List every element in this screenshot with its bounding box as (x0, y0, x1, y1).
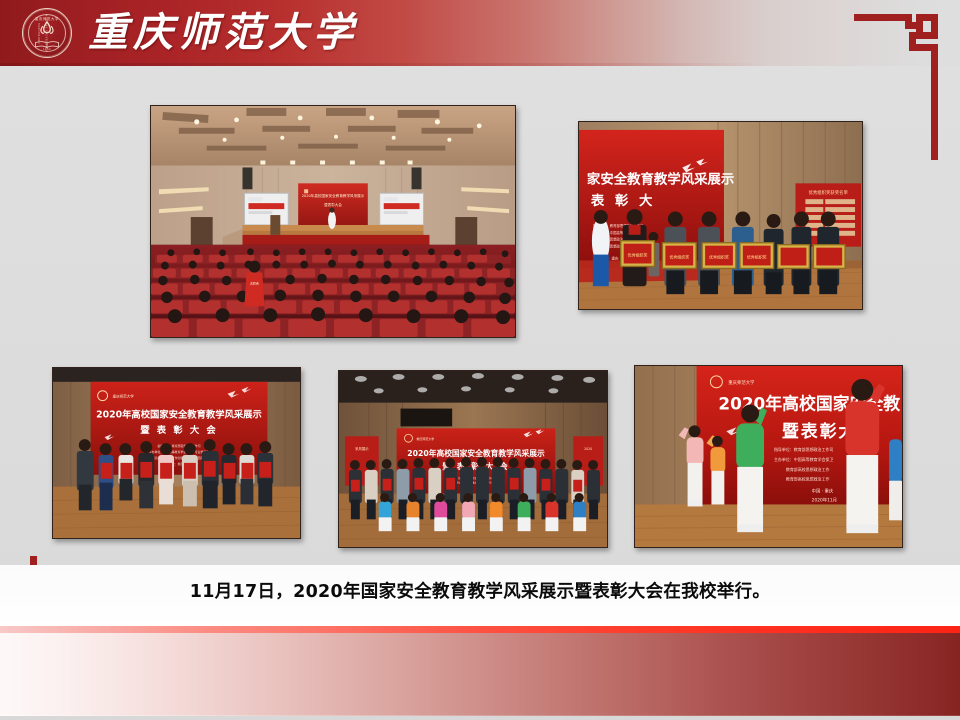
svg-text:志愿者: 志愿者 (250, 280, 259, 285)
header-banner: 重庆师范大学 CHONGQING NORMAL UNIVERSITY 1954 … (0, 0, 960, 66)
svg-text:主办单位：中国高等教育学会保卫学专业委员会: 主办单位：中国高等教育学会保卫学专业委员会 (149, 449, 209, 454)
svg-text:2020年高校国家安全教育教学风采展示: 2020年高校国家安全教育教学风采展示 (302, 193, 365, 198)
svg-text:重庆师范大学: 重庆师范大学 (113, 394, 135, 399)
svg-text:2020年11月: 2020年11月 (812, 497, 837, 504)
svg-text:2020: 2020 (584, 447, 592, 451)
svg-text:主办单位：中国高等教育学会保卫: 主办单位：中国高等教育学会保卫 (774, 457, 833, 462)
svg-text:家安全教育教学风采展示: 家安全教育教学风采展示 (587, 170, 734, 187)
svg-text:优秀组织奖获奖名单: 优秀组织奖获奖名单 (809, 189, 849, 196)
photo-auditorium: 2020年高校国家安全教育教学风采展示 暨表彰大会 (150, 105, 516, 338)
svg-text:指导单位：教育部思想政治工作司: 指导单位：教育部思想政治工作司 (774, 447, 833, 452)
footer-gradient-band (0, 633, 960, 720)
university-seal-icon: 重庆师范大学 CHONGQING NORMAL UNIVERSITY 1954 (22, 8, 72, 58)
page-title: 重庆师范大学 (88, 4, 358, 62)
svg-text:优秀组织奖: 优秀组织奖 (709, 255, 729, 260)
svg-text:暨表彰大会: 暨表彰大会 (324, 202, 342, 207)
photo-awards: 家安全教育教学风采展示 表 彰 大 指导单位：教育部思想政治工作司 主办单位：中… (578, 121, 863, 310)
svg-text:优秀组织奖: 优秀组织奖 (747, 255, 767, 260)
svg-text:教育部高校思想政治工作: 教育部高校思想政治工作 (786, 467, 830, 472)
seal-book-icon (34, 41, 60, 48)
svg-text:2020年高校国家安全教育教学风采展示: 2020年高校国家安全教育教学风采展示 (96, 408, 262, 420)
slide-bottom-edge (0, 716, 960, 720)
caption-text: 11月17日，2020年国家安全教育教学风采展示暨表彰大会在我校举行。 (0, 578, 960, 603)
svg-text:优秀组织奖: 优秀组织奖 (669, 255, 689, 260)
photo-certificates: 重庆师范大学 2020年高校国家安全教育教学风采展示 暨 表 彰 大 会 指导单… (52, 367, 301, 539)
svg-text:重庆师范大学: 重庆师范大学 (416, 436, 434, 441)
photo-groupphoto: 重庆师范大学 2020年高校国家安全教育教学风采展示 暨 表 彰 大 会 指导单… (338, 370, 608, 548)
photo-performers: 重庆师范大学 2020年高校国家安全教 暨表彰大 指导单位：教育部思想政治工作司… (634, 365, 903, 548)
svg-text:重庆师范大学: 重庆师范大学 (728, 379, 755, 386)
svg-text:采风展示: 采风展示 (355, 446, 369, 451)
chinese-meander-corner-icon (854, 8, 946, 166)
svg-text:教育部高校思想政治工作: 教育部高校思想政治工作 (786, 477, 830, 482)
svg-text:表 彰 大: 表 彰 大 (590, 192, 655, 209)
svg-text:2020年高校国家安全教育教学风采展示: 2020年高校国家安全教育教学风采展示 (407, 448, 545, 458)
svg-text:暨 表 彰 大 会: 暨 表 彰 大 会 (140, 424, 217, 436)
presentation-slide: 重庆师范大学 CHONGQING NORMAL UNIVERSITY 1954 … (0, 0, 960, 720)
svg-text:优秀组织奖: 优秀组织奖 (628, 253, 648, 258)
footer-accent-stripe (0, 626, 960, 633)
svg-text:中国 · 重庆: 中国 · 重庆 (812, 488, 834, 495)
seal-flame-emblem-icon (36, 20, 58, 42)
